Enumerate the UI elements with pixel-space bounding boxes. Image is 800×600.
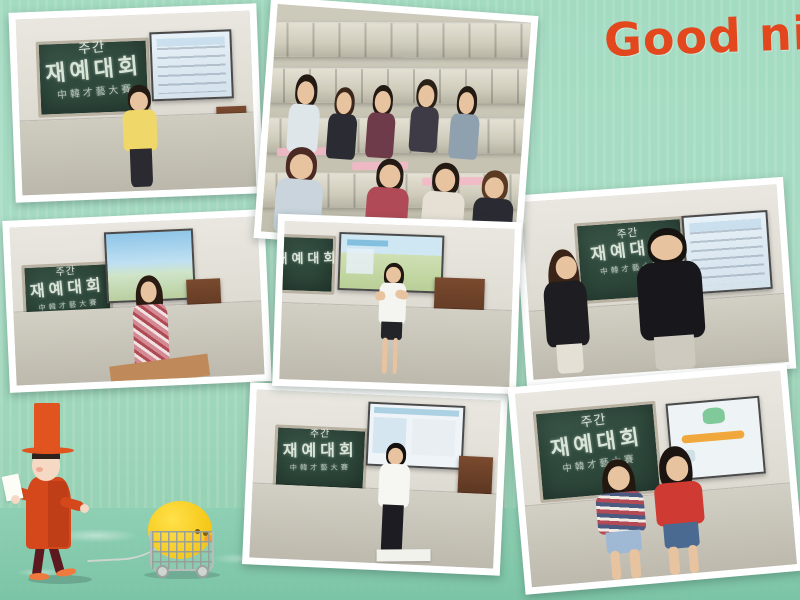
photo-man-white-shirt[interactable]: 주간 재예대회 中韓才藝大賽	[242, 382, 508, 576]
illustration-man-pulling-cart	[8, 403, 218, 578]
podium	[457, 456, 493, 494]
student	[445, 85, 486, 160]
photo-two-people-black-shirts[interactable]: 주간 재예대회 中韓才藝大賽	[514, 177, 797, 387]
man-shoe	[29, 573, 49, 580]
photo-woman-floral-dress[interactable]: 주간 재예대회 中韓才藝大賽	[2, 209, 272, 393]
chalkboard-korean-text: 재예대회	[279, 251, 339, 268]
photo-image: 주간 재예대회 中韓才藝大賽	[10, 216, 265, 385]
chalkboard-line2: 재예대회	[279, 251, 339, 268]
photo-image: 주간 재예대회 中韓才藝大賽	[521, 184, 789, 379]
photo-image: 주간 재예대회 中韓才藝大賽	[249, 390, 500, 569]
person-man-presenting	[371, 442, 415, 558]
photo-woman-yellow-cardigan[interactable]: 주간 재예대회 中韓才藝大賽	[8, 3, 263, 202]
photo-image: 주간 재예대회 中韓才藝大賽	[16, 11, 257, 196]
cart-wheel	[156, 565, 169, 578]
photo-two-girls-peace-sign[interactable]: 주간 재예대회 中韓才藝大賽	[507, 363, 800, 595]
man-hand-right	[80, 504, 89, 513]
chalkboard: 재예대회	[279, 233, 336, 295]
chalkboard-line2: 재예대회	[283, 441, 358, 462]
person-dancing	[371, 262, 412, 377]
photo-image	[261, 4, 531, 250]
girl-floral-top	[590, 457, 653, 581]
student	[282, 73, 326, 153]
girl-red-top	[648, 444, 712, 576]
chalkboard-korean-text: 주간 재예대회 中韓才藝大賽	[28, 262, 107, 312]
man-cheek	[36, 467, 43, 472]
person-with-phone	[537, 247, 597, 375]
student	[361, 84, 402, 159]
person-presenter	[112, 84, 167, 188]
man-coat-shading	[48, 481, 69, 547]
student	[322, 85, 363, 160]
photo-collage-canvas: 주간 재예대회 中韓才藝大賽	[0, 0, 800, 600]
chalkboard-line3: 中韓才藝大賽	[283, 463, 358, 473]
page-title: Good night	[603, 3, 800, 67]
man-hand-left	[11, 495, 20, 504]
photo-girl-dancing[interactable]: 재예대회	[272, 214, 522, 394]
photo-image: 재예대회	[279, 221, 514, 387]
person-man-black-shirt	[631, 225, 712, 372]
top-hat	[34, 403, 60, 449]
chalkboard: 주간 재예대회 中韓才藝大賽	[272, 424, 369, 491]
photo-image: 주간 재예대회 中韓才藝大賽	[515, 371, 797, 587]
cart-wheel	[196, 565, 209, 578]
chalkboard-korean-text: 주간 재예대회 中韓才藝大賽	[283, 429, 358, 473]
student	[404, 78, 445, 153]
paper-on-floor	[376, 549, 430, 561]
